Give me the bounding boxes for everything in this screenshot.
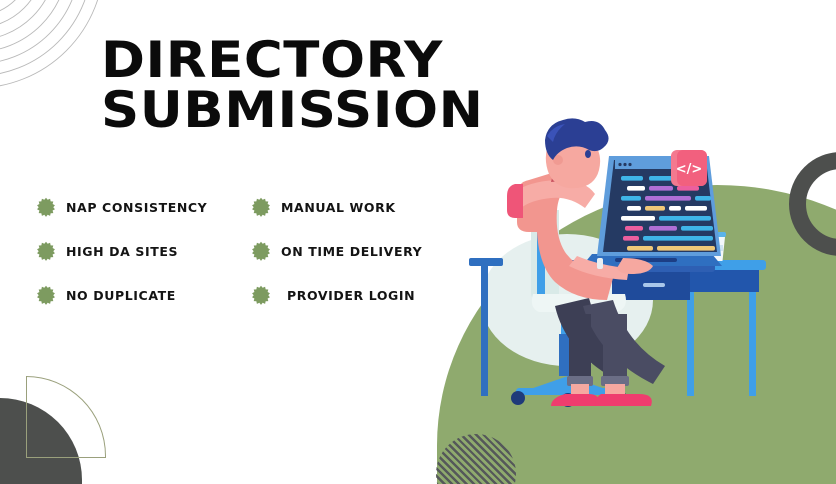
- code-badge: </>: [671, 150, 707, 186]
- developer-at-desk-illustration: </>: [437, 118, 836, 484]
- starburst-icon: [251, 241, 271, 261]
- feature-item-provider-login: PROVIDER LOGIN: [251, 285, 456, 305]
- olive-quarter-outline-decoration: [26, 376, 106, 458]
- starburst-icon: [251, 285, 271, 305]
- feature-label: ON TIME DELIVERY: [281, 244, 422, 259]
- feature-item-no-duplicate: NO DUPLICATE: [36, 285, 251, 305]
- feature-item-high-da-sites: HIGH DA SITES: [36, 241, 251, 261]
- starburst-icon: [36, 197, 56, 217]
- feature-label: PROVIDER LOGIN: [287, 288, 415, 303]
- feature-item-on-time-delivery: ON TIME DELIVERY: [251, 241, 456, 261]
- starburst-icon: [36, 285, 56, 305]
- feature-item-nap-consistency: NAP CONSISTENCY: [36, 197, 251, 217]
- feature-label: MANUAL WORK: [281, 200, 396, 215]
- starburst-icon: [36, 241, 56, 261]
- starburst-icon: [251, 197, 271, 217]
- poster-canvas: DIRECTORY SUBMISSION NAP CONSISTENCY MAN…: [0, 0, 836, 484]
- feature-label: NAP CONSISTENCY: [66, 200, 207, 215]
- feature-label: NO DUPLICATE: [66, 288, 176, 303]
- feature-list: NAP CONSISTENCY MANUAL WORK HIGH DA SITE…: [36, 185, 456, 317]
- code-badge-glyph: </>: [676, 162, 703, 177]
- side-desk: [680, 260, 766, 396]
- feature-item-manual-work: MANUAL WORK: [251, 197, 456, 217]
- feature-label: HIGH DA SITES: [66, 244, 178, 259]
